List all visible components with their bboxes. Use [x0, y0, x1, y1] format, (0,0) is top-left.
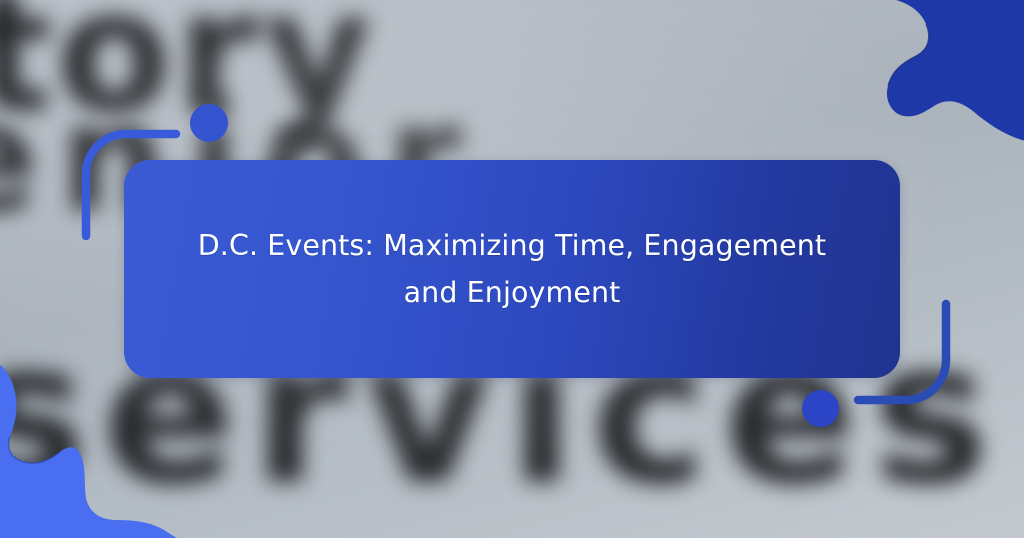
- banner-canvas: tory enior services D.C. Events: Maximiz…: [0, 0, 1024, 538]
- page-title: D.C. Events: Maximizing Time, Engagement…: [182, 222, 842, 316]
- title-card: D.C. Events: Maximizing Time, Engagement…: [124, 160, 900, 378]
